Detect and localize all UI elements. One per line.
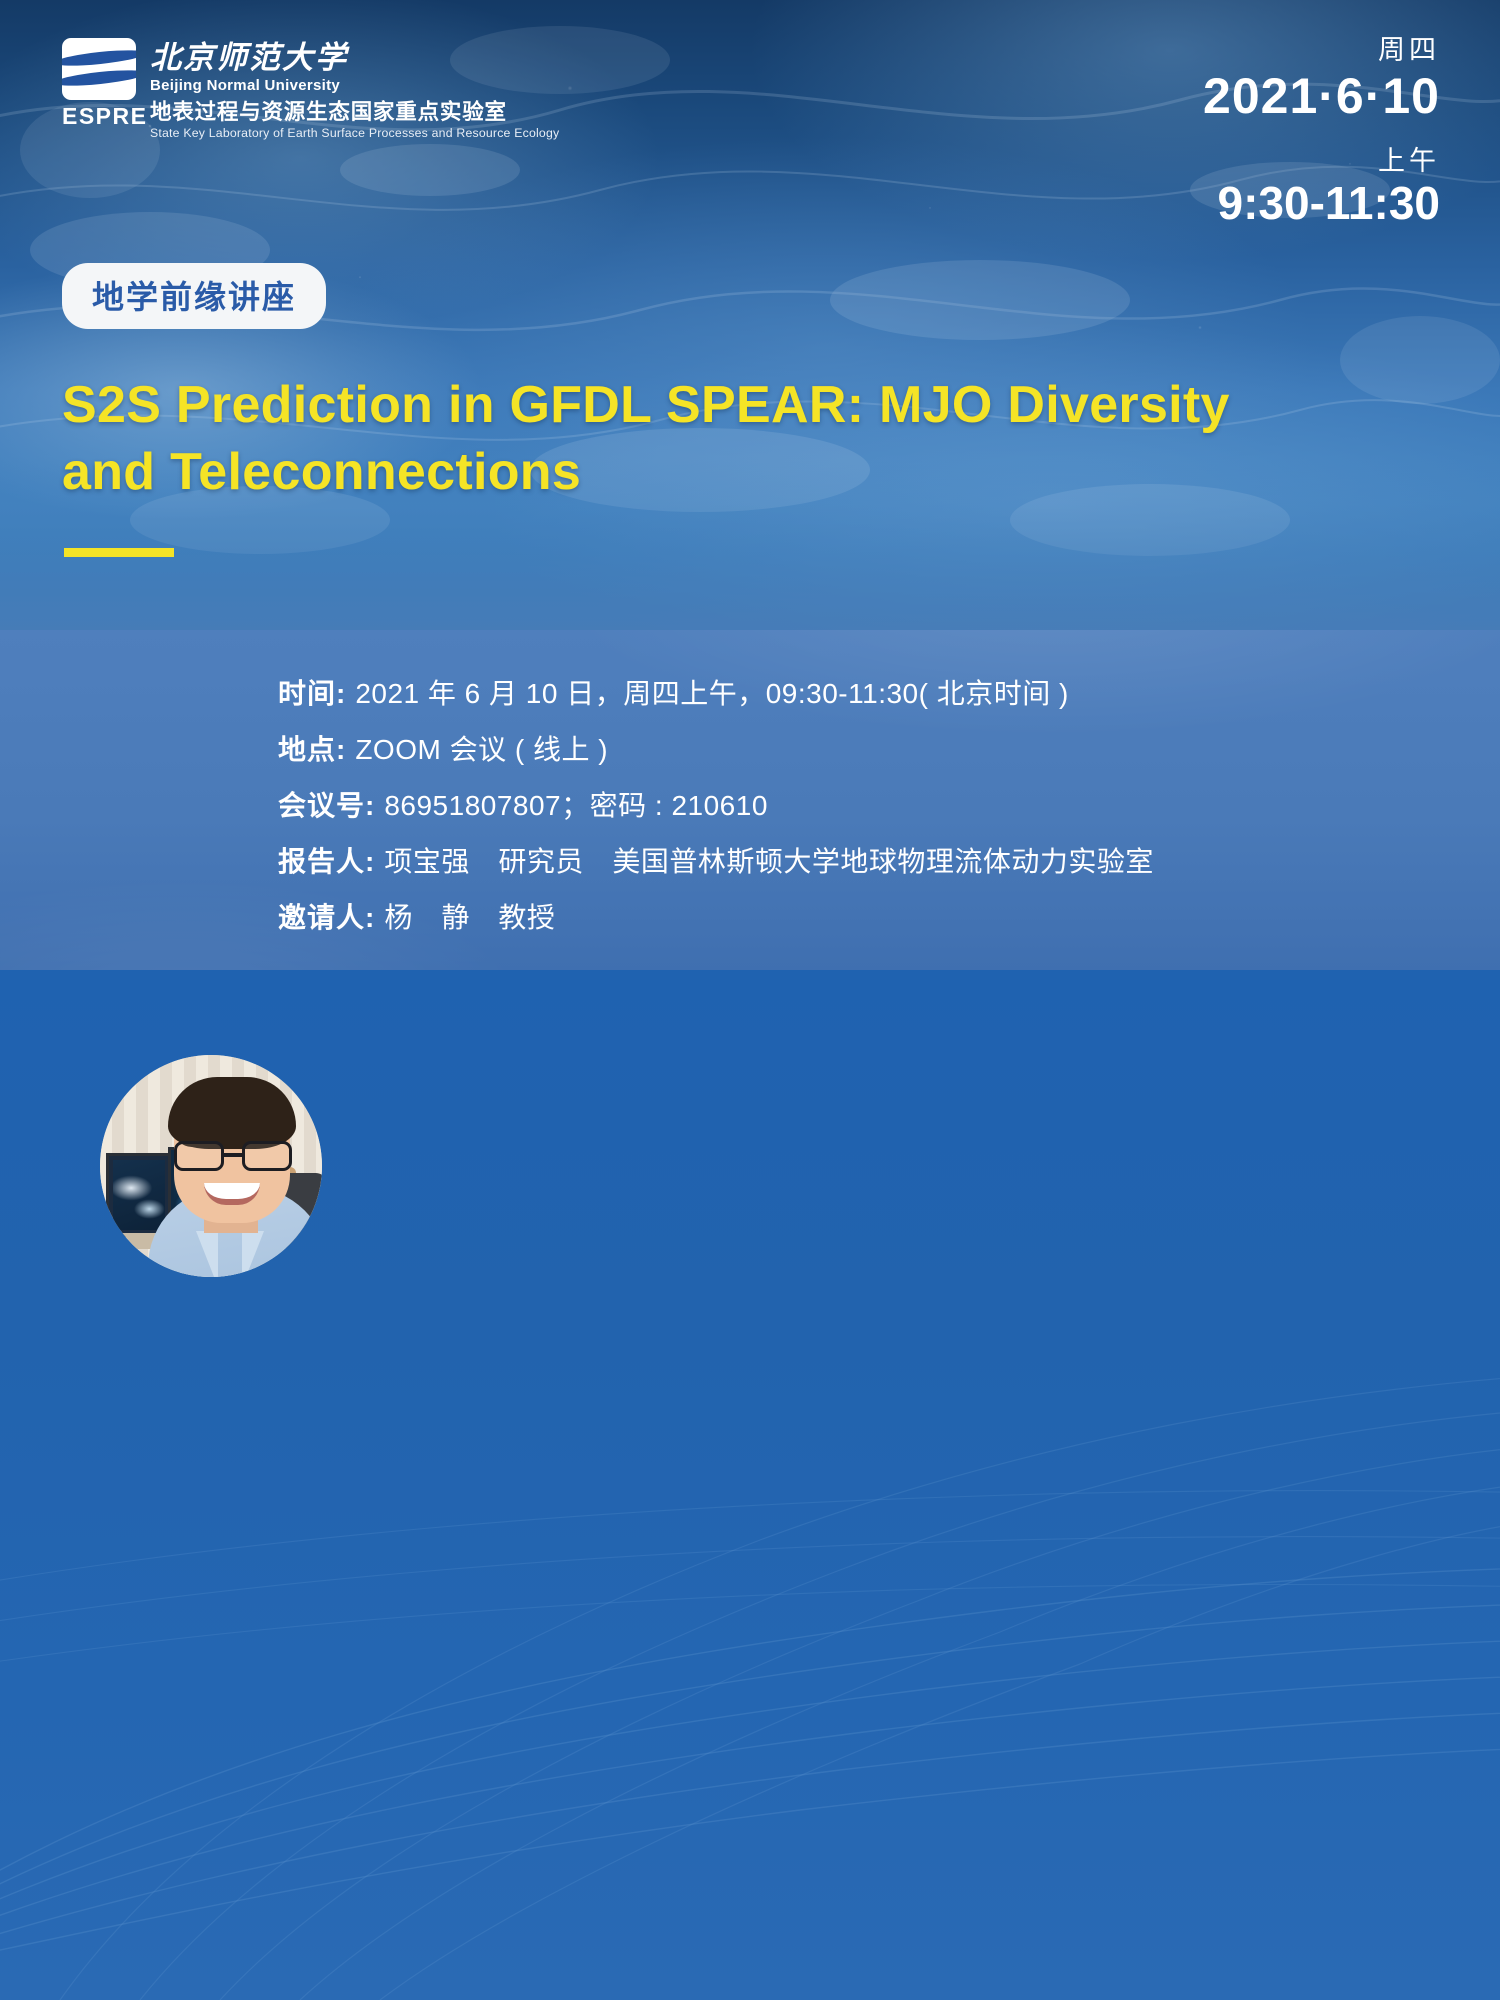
page-title: S2S Prediction in GFDL SPEAR: MJO Divers… — [62, 372, 1242, 505]
title-underline-rule — [64, 548, 174, 557]
hero-ocean-background: ESPRE 北京师范大学 Beijing Normal University 地… — [0, 0, 1500, 630]
info-row-time: 时间: 2021 年 6 月 10 日，周四上午，09:30-11:30( 北京… — [278, 680, 1154, 708]
info-label: 报告人: — [278, 848, 375, 876]
event-ampm: 上午 — [1203, 147, 1440, 177]
info-label: 时间: — [278, 680, 346, 708]
info-value: ZOOM 会议 ( 线上 ) — [355, 736, 608, 764]
series-badge: 地学前缘讲座 — [62, 263, 326, 329]
info-label: 会议号: — [278, 792, 375, 820]
seminar-poster: ESPRE 北京师范大学 Beijing Normal University 地… — [0, 0, 1500, 2000]
info-value: 86951807807；密码 : 210610 — [384, 792, 768, 820]
event-time-range: 9:30-11:30 — [1203, 177, 1440, 230]
info-value: 项宝强 研究员 美国普林斯顿大学地球物理流体动力实验室 — [384, 848, 1154, 876]
info-row-location: 地点: ZOOM 会议 ( 线上 ) — [278, 736, 1154, 764]
espre-wave-logo-icon: ESPRE — [62, 38, 136, 130]
event-date-block: 周四 2021·6·10 上午 9:30-11:30 — [1203, 36, 1440, 230]
info-row-host: 邀请人: 杨 静 教授 — [278, 904, 1154, 932]
glasses-icon — [172, 1141, 294, 1171]
info-row-meeting-id: 会议号: 86951807807；密码 : 210610 — [278, 792, 1154, 820]
info-label: 邀请人: — [278, 904, 375, 932]
lab-name-en: State Key Laboratory of Earth Surface Pr… — [150, 126, 559, 140]
info-label: 地点: — [278, 736, 346, 764]
event-info-list: 时间: 2021 年 6 月 10 日，周四上午，09:30-11:30( 北京… — [278, 680, 1154, 960]
logo-acronym: ESPRE — [62, 103, 136, 130]
university-name-cn: 北京师范大学 — [150, 42, 559, 75]
lab-name-cn: 地表过程与资源生态国家重点实验室 — [150, 101, 559, 125]
event-info-panel: 时间: 2021 年 6 月 10 日，周四上午，09:30-11:30( 北京… — [0, 630, 1500, 970]
event-date: 2021·6·10 — [1203, 68, 1440, 126]
university-name-en: Beijing Normal University — [150, 77, 559, 94]
speaker-portrait — [100, 1055, 322, 1277]
brand-logo-block: ESPRE 北京师范大学 Beijing Normal University 地… — [62, 38, 559, 140]
info-row-speaker: 报告人: 项宝强 研究员 美国普林斯顿大学地球物理流体动力实验室 — [278, 848, 1154, 876]
info-value: 2021 年 6 月 10 日，周四上午，09:30-11:30( 北京时间 ) — [355, 680, 1069, 708]
info-value: 杨 静 教授 — [384, 904, 555, 932]
event-weekday: 周四 — [1203, 36, 1440, 66]
